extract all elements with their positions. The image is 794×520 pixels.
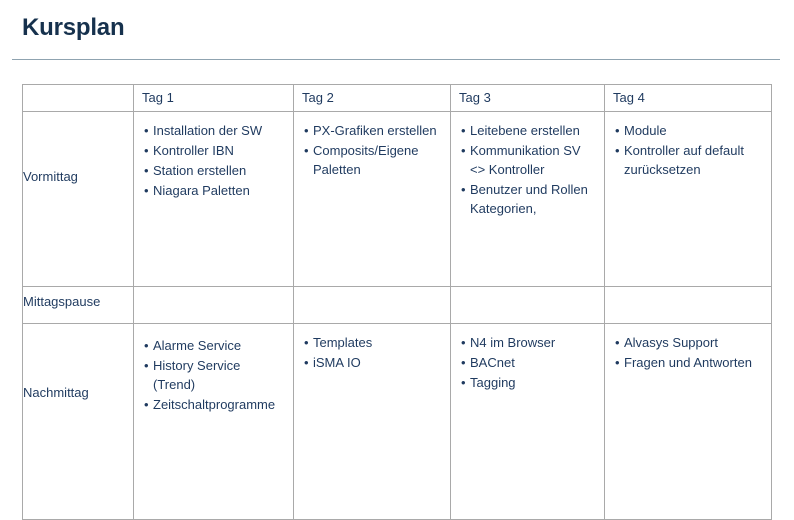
document-page: Kursplan Tag 1 Tag 2 Tag 3 [0, 0, 794, 407]
list-item: Installation der SW [144, 121, 286, 140]
bullet-list: TemplatesiSMA IO [294, 324, 450, 372]
list-item: N4 im Browser [461, 333, 597, 352]
list-item: Leitebene erstellen [461, 121, 597, 140]
bullet-list: ModuleKontroller auf default zurücksetze… [605, 112, 771, 179]
list-item: Niagara Paletten [144, 181, 286, 200]
column-header-day1: Tag 1 [134, 85, 293, 106]
bullet-list: N4 im BrowserBACnetTagging [451, 324, 604, 392]
list-item: Kommunikation SV <> Kontroller [461, 141, 597, 179]
bullet-list: Installation der SWKontroller IBNStation… [134, 112, 293, 200]
cell-nachmittag-day4: Alvasys SupportFragen und Antworten [605, 324, 772, 520]
cell-mittagspause-day1 [134, 287, 294, 324]
header-cell-day3: Tag 3 [451, 85, 605, 112]
header-cell-day2: Tag 2 [294, 85, 451, 112]
list-item: Templates [304, 333, 443, 352]
page-title: Kursplan [22, 13, 124, 43]
table-header-row: Tag 1 Tag 2 Tag 3 Tag 4 [23, 85, 772, 112]
bullet-list: Leitebene erstellenKommunikation SV <> K… [451, 112, 604, 218]
list-item: Fragen und Antworten [615, 353, 764, 372]
header-cell-day1: Tag 1 [134, 85, 294, 112]
list-item: Module [615, 121, 764, 140]
table-row-vormittag: Vormittag Installation der SWKontroller … [23, 112, 772, 287]
cell-mittagspause-day3 [451, 287, 605, 324]
cell-nachmittag-day1: Alarme ServiceHistory Service (Trend)Zei… [134, 324, 294, 520]
cell-vormittag-day2: PX-Grafiken erstellenComposits/Eigene Pa… [294, 112, 451, 287]
cell-vormittag-day3: Leitebene erstellenKommunikation SV <> K… [451, 112, 605, 287]
cell-mittagspause-day4 [605, 287, 772, 324]
list-item: iSMA IO [304, 353, 443, 372]
list-item: Benutzer und Rollen Kategorien, [461, 180, 597, 218]
row-label-nachmittag: Nachmittag [23, 324, 134, 520]
column-header-label [23, 85, 133, 89]
header-cell-day4: Tag 4 [605, 85, 772, 112]
header-cell-blank [23, 85, 134, 112]
cell-nachmittag-day3: N4 im BrowserBACnetTagging [451, 324, 605, 520]
list-item: Kontroller auf default zurücksetzen [615, 141, 764, 179]
list-item: Tagging [461, 373, 597, 392]
list-item: PX-Grafiken erstellen [304, 121, 443, 140]
table-row-mittagspause: Mittagspause [23, 287, 772, 324]
bullet-list: Alvasys SupportFragen und Antworten [605, 324, 771, 372]
table-row-nachmittag: Nachmittag Alarme ServiceHistory Service… [23, 324, 772, 520]
list-item: Kontroller IBN [144, 141, 286, 160]
row-label-vormittag: Vormittag [23, 112, 134, 287]
cell-vormittag-day1: Installation der SWKontroller IBNStation… [134, 112, 294, 287]
list-item: Zeitschaltprogramme [144, 395, 286, 414]
list-item: Composits/Eigene Paletten [304, 141, 443, 179]
title-divider [12, 59, 780, 60]
bullet-list: PX-Grafiken erstellenComposits/Eigene Pa… [294, 112, 450, 179]
course-schedule-table: Tag 1 Tag 2 Tag 3 Tag 4 Vormittag Instal… [22, 84, 772, 520]
column-header-day2: Tag 2 [294, 85, 450, 106]
list-item: BACnet [461, 353, 597, 372]
list-item: Alvasys Support [615, 333, 764, 352]
row-label-mittagspause: Mittagspause [23, 287, 134, 324]
column-header-day3: Tag 3 [451, 85, 604, 106]
list-item: Alarme Service [144, 336, 286, 355]
column-header-day4: Tag 4 [605, 85, 771, 106]
cell-vormittag-day4: ModuleKontroller auf default zurücksetze… [605, 112, 772, 287]
list-item: Station erstellen [144, 161, 286, 180]
list-item: History Service (Trend) [144, 356, 286, 394]
bullet-list: Alarme ServiceHistory Service (Trend)Zei… [134, 324, 293, 414]
cell-nachmittag-day2: TemplatesiSMA IO [294, 324, 451, 520]
cell-mittagspause-day2 [294, 287, 451, 324]
